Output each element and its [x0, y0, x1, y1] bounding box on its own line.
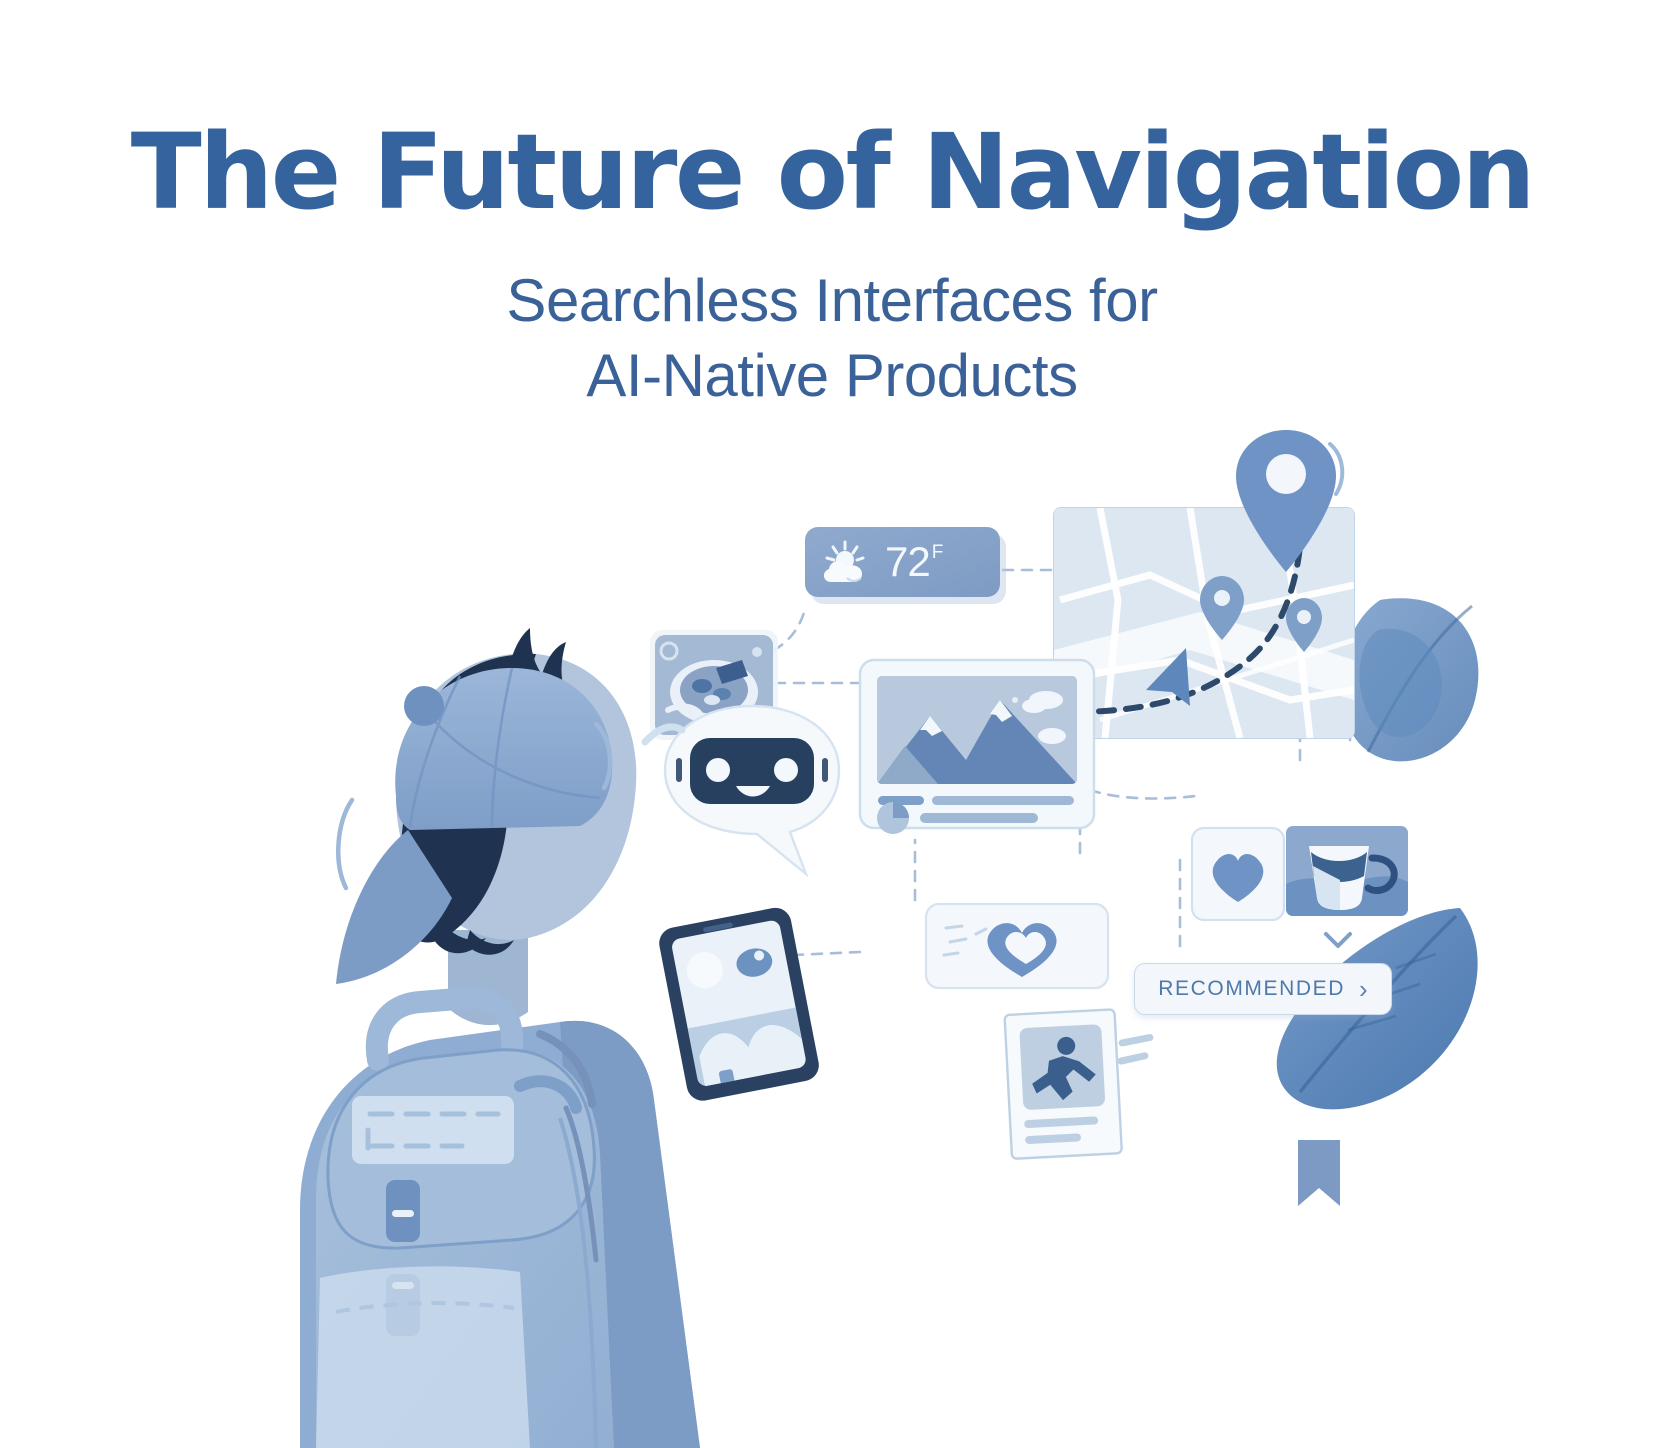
- heart-card[interactable]: [1192, 828, 1284, 920]
- phone-card[interactable]: [656, 905, 821, 1103]
- favorite-wide-card[interactable]: [926, 904, 1108, 988]
- chevron-right-icon: ›: [1359, 976, 1368, 1002]
- heart-outline-icon: [987, 923, 1056, 977]
- connector-lines: [757, 570, 1350, 955]
- backpack: [316, 998, 614, 1448]
- leaf-right-top-icon: [1341, 598, 1478, 761]
- map-pin-small-2-icon: [1286, 598, 1322, 652]
- motion-lines: [338, 724, 610, 888]
- sparkle-lines: [944, 926, 986, 955]
- leaf-left-small-icon: [1360, 629, 1442, 737]
- chatbot-bubble[interactable]: [645, 706, 839, 874]
- backpack-label: [352, 1096, 514, 1164]
- page-subtitle-line-2: AI-Native Products: [0, 338, 1664, 413]
- pie-chart-icon: [877, 802, 909, 834]
- running-person-icon: [1030, 1035, 1097, 1101]
- traveler-character: [300, 628, 700, 1448]
- map-pin-small-icon: [1200, 576, 1244, 640]
- buckle-lower: [386, 1274, 420, 1336]
- page-subtitle: Searchless Interfaces for AI-Native Prod…: [0, 263, 1664, 413]
- food-card[interactable]: [650, 630, 778, 740]
- poster-heading-block: The Future of Navigation Searchless Inte…: [0, 118, 1664, 413]
- weather-card[interactable]: 72F: [805, 527, 1000, 597]
- activity-card[interactable]: [1005, 1008, 1156, 1159]
- robot-face-icon: [690, 738, 814, 804]
- recommended-label: RECOMMENDED: [1158, 977, 1345, 1001]
- bookmark-icon[interactable]: [1298, 1140, 1340, 1206]
- page-title: The Future of Navigation: [0, 118, 1664, 227]
- recommended-button[interactable]: RECOMMENDED ›: [1134, 963, 1392, 1015]
- weather-unit: F: [932, 542, 943, 564]
- poster-canvas: The Future of Navigation Searchless Inte…: [0, 0, 1664, 1448]
- weather-temperature: 72F: [885, 538, 942, 586]
- speed-lines: [1120, 1037, 1151, 1061]
- coffee-card[interactable]: [1286, 826, 1408, 916]
- map-pin-large-icon: [1236, 430, 1342, 572]
- chevron-down-icon: [1326, 934, 1350, 946]
- article-card[interactable]: [860, 660, 1094, 834]
- sun-cloud-icon: [819, 538, 875, 586]
- buckle-upper: [386, 1180, 420, 1242]
- heart-icon: [1213, 854, 1264, 902]
- map-card[interactable]: [1054, 430, 1354, 738]
- backpack-front-pocket: [316, 1266, 530, 1448]
- page-subtitle-line-1: Searchless Interfaces for: [0, 263, 1664, 338]
- cap-button: [404, 686, 444, 726]
